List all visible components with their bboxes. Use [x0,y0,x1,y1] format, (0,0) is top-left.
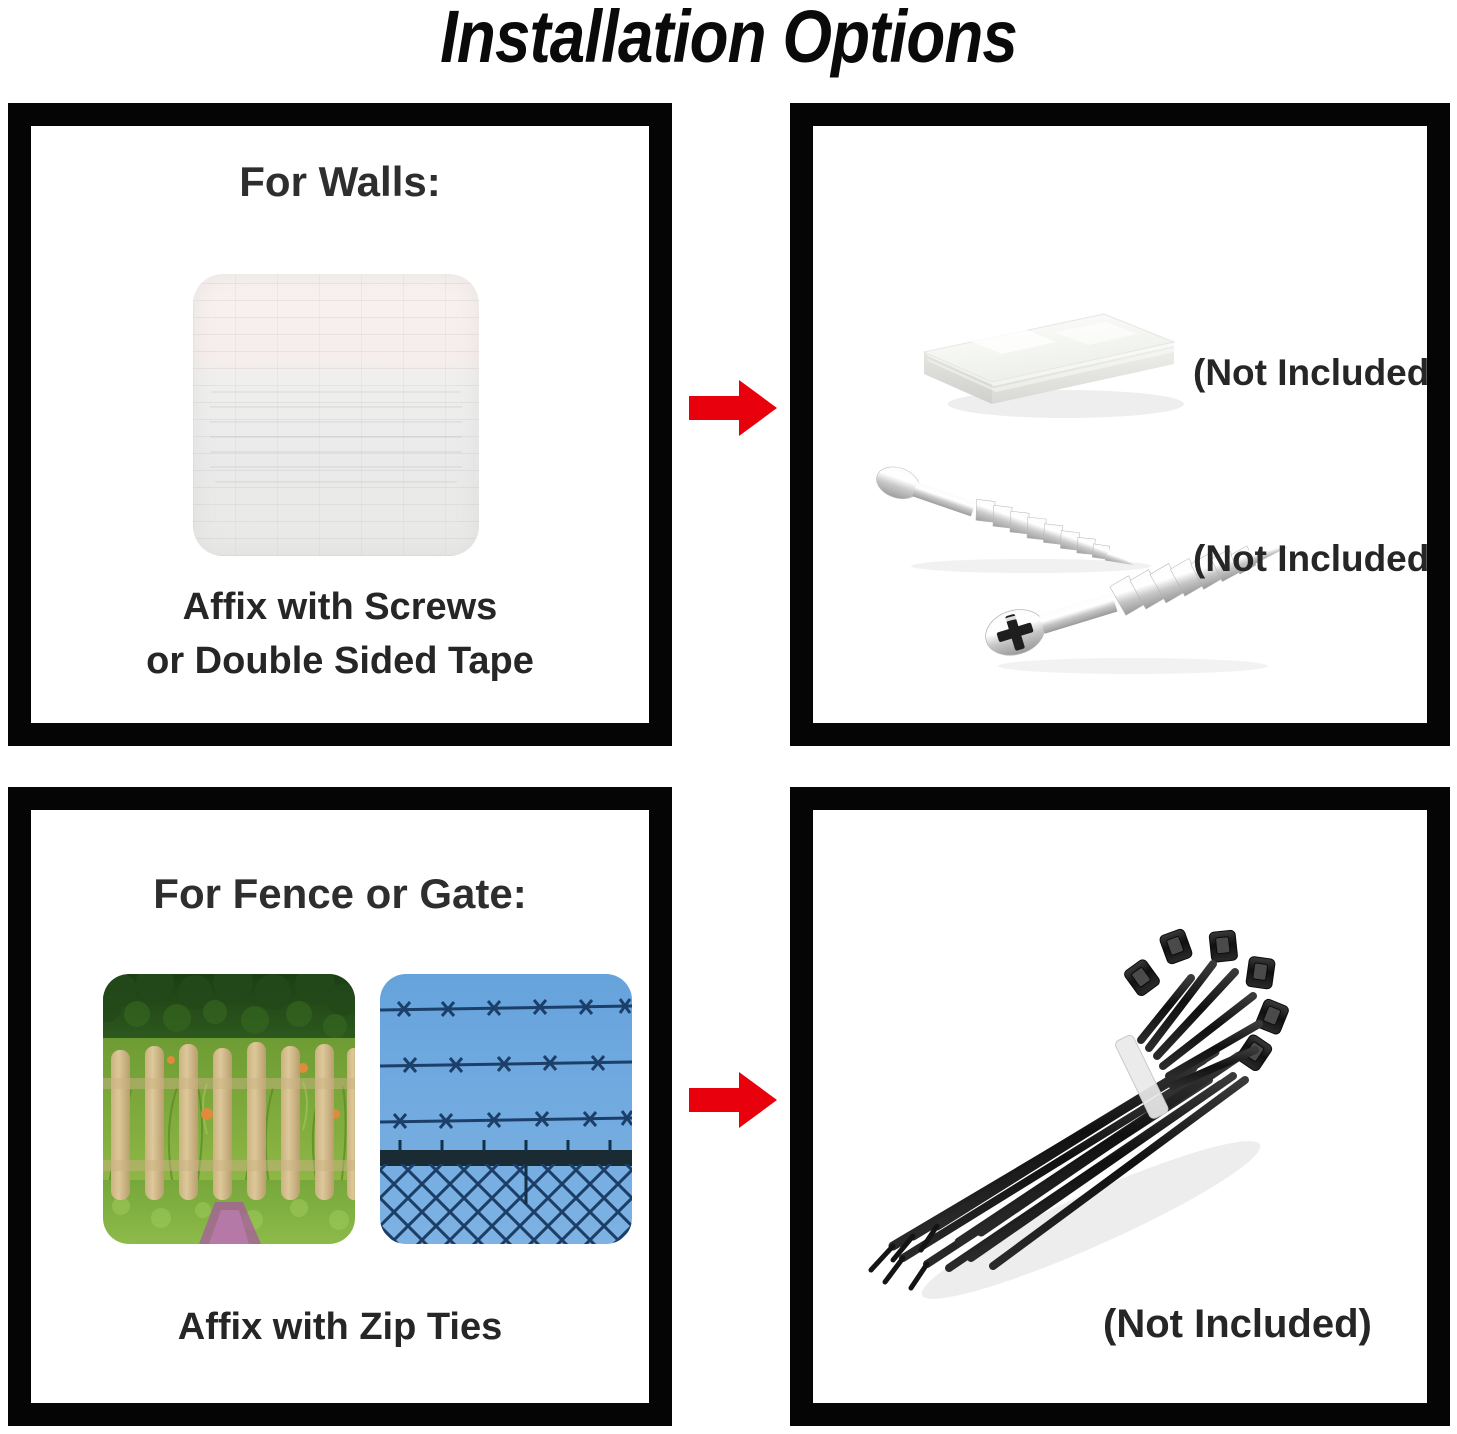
fence-heading: For Fence or Gate: [31,870,649,918]
ziptie-not-included-label: (Not Included) [1103,1302,1372,1347]
black-zip-ties-bundle-image [841,920,1301,1300]
walls-caption-line1: Affix with Screws [31,581,649,635]
panel-for-fence-inner: For Fence or Gate: [31,810,649,1403]
tape-not-included-label: (Not Included) [1193,352,1427,394]
panel-for-fence-or-gate: For Fence or Gate: [8,787,672,1426]
panel-hardware: (Not Included) [790,103,1450,746]
chain-link-barbed-wire-fence-image [380,974,632,1244]
panel-zip-ties: (Not Included) [790,787,1450,1426]
walls-caption-line2: or Double Sided Tape [31,635,649,689]
red-right-arrow-icon-top [689,378,777,438]
walls-caption: Affix with Screws or Double Sided Tape [31,581,649,689]
red-right-arrow-icon-bottom [689,1070,777,1130]
panel-hardware-inner: (Not Included) [813,126,1427,723]
white-brick-wall-image [193,274,479,556]
fence-caption-line1: Affix with Zip Ties [31,1301,649,1355]
wooden-picket-fence-image [103,974,355,1244]
panel-for-walls: For Walls: Affix with Screws or Double S… [8,103,672,746]
screw-not-included-label: (Not Included) [1193,538,1427,580]
page-title: Installation Options [102,0,1355,79]
walls-heading: For Walls: [31,158,649,206]
panel-zip-ties-inner: (Not Included) [813,810,1427,1403]
panel-for-walls-inner: For Walls: Affix with Screws or Double S… [31,126,649,723]
double-sided-tape-stack-image [906,244,1206,429]
fence-caption: Affix with Zip Ties [31,1301,649,1355]
